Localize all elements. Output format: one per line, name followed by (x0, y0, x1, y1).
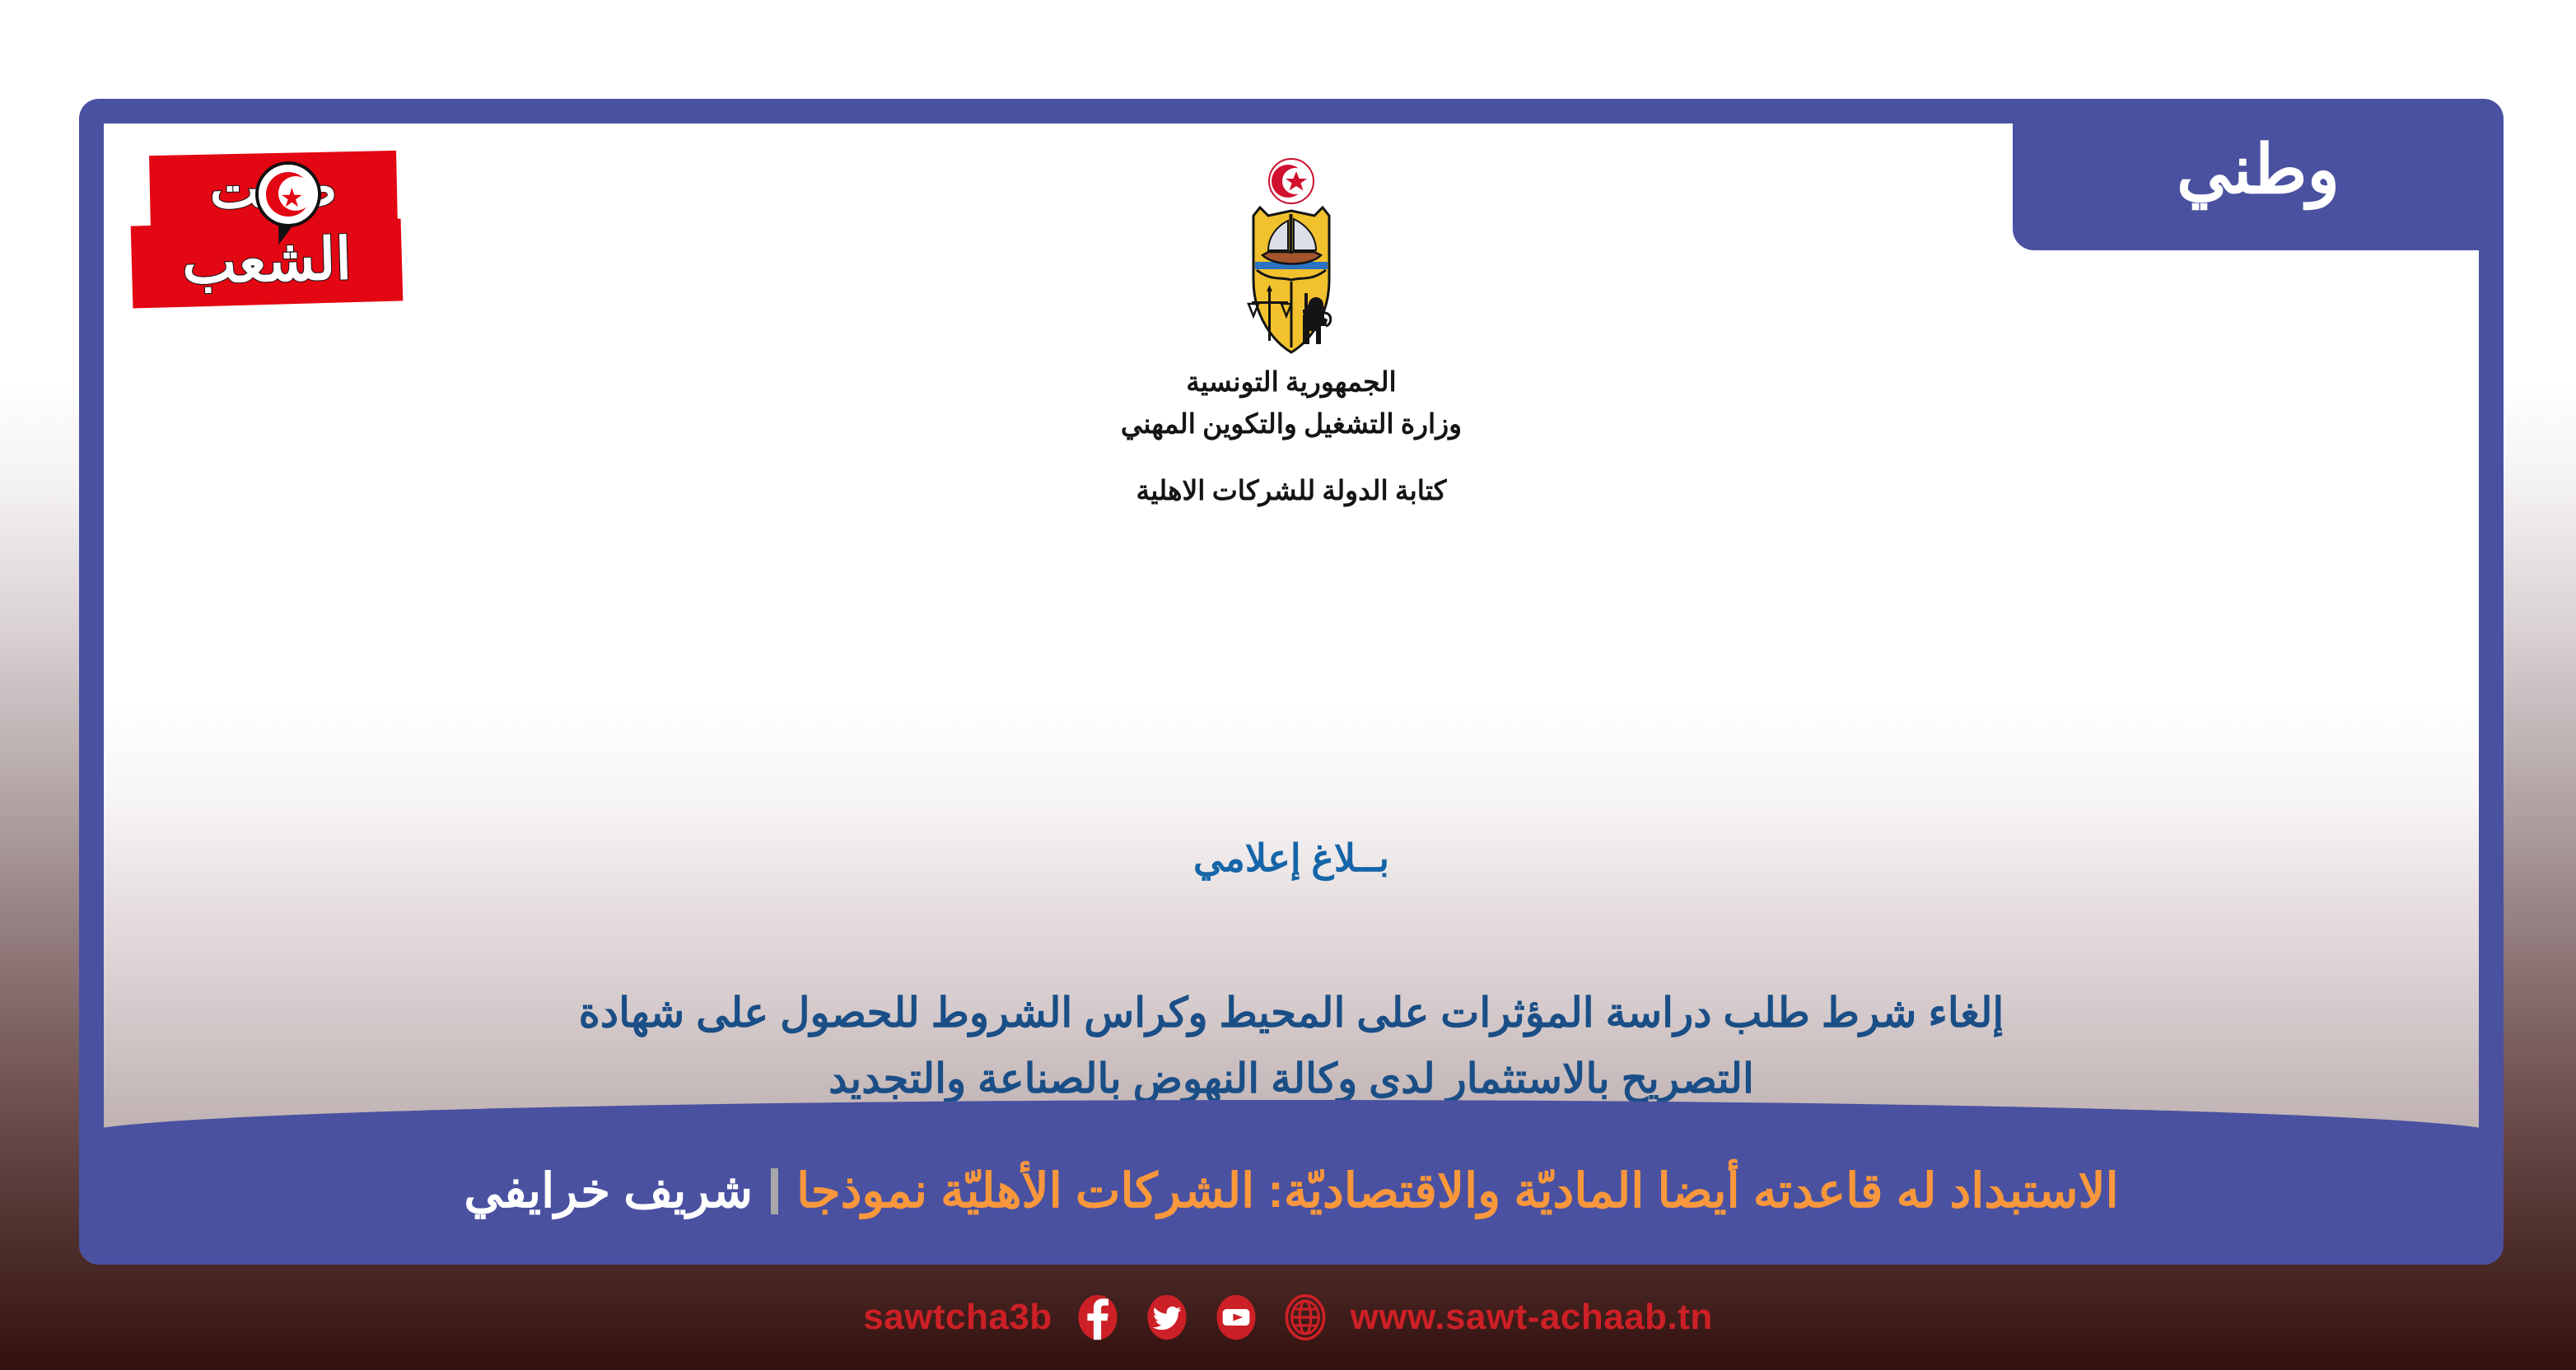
headline-separator (771, 1168, 778, 1214)
website-url[interactable]: www.sawt-achaab.tn (1351, 1297, 1713, 1338)
logo-text-bottom: الشعب (181, 230, 352, 297)
poster-frame: وطني صــت الشعب ★ (79, 99, 2504, 1265)
press-release-title: بــلاغ إعلامي (104, 836, 2479, 880)
facebook-icon[interactable] (1074, 1293, 1122, 1341)
twitter-icon[interactable] (1143, 1293, 1191, 1341)
star-icon: ★ (280, 184, 304, 211)
document-card: وطني صــت الشعب ★ (104, 123, 2479, 1155)
headline-inner: الاستبداد له قاعدته أيضا الماديّة والاقت… (464, 1167, 2118, 1215)
social-handle: sawtcha3b (863, 1297, 1052, 1338)
headline-title[interactable]: الاستبداد له قاعدته أيضا الماديّة والاقت… (796, 1167, 2119, 1215)
ministry-line-secretariat: كتابة الدولة للشركات الاهلية (1136, 474, 1447, 507)
tunisian-coat-of-arms-emblem (1217, 156, 1365, 362)
statement-line-1: إلغاء شرط طلب دراسة المؤثرات على المحيط … (351, 980, 2232, 1046)
ministry-line-republic: الجمهورية التونسية (1186, 362, 1396, 404)
youtube-icon[interactable] (1212, 1293, 1260, 1341)
headline-band[interactable]: الاستبداد له قاعدته أيضا الماديّة والاقت… (79, 1100, 2504, 1265)
press-release-statement: إلغاء شرط طلب دراسة المؤثرات على المحيط … (351, 980, 2232, 1111)
category-label: وطني (2177, 137, 2340, 212)
ministry-line-ministry: وزارة التشغيل والتكوين المهني (1121, 404, 1462, 446)
category-ribbon[interactable]: وطني (2013, 123, 2479, 250)
logo-bar-bottom: الشعب (131, 218, 404, 308)
headline-author[interactable]: شريف خرايفي (464, 1167, 753, 1215)
footer-social-strip: sawtcha3b (0, 1265, 2576, 1370)
poster-canvas: وطني صــت الشعب ★ (0, 0, 2576, 1370)
crescent-wrap: ★ (259, 165, 318, 224)
sawt-achaab-logo[interactable]: صــت الشعب ★ (132, 153, 412, 305)
tunisian-flag-crescent-star-icon: ★ (255, 161, 321, 227)
globe-icon[interactable] (1281, 1293, 1329, 1341)
